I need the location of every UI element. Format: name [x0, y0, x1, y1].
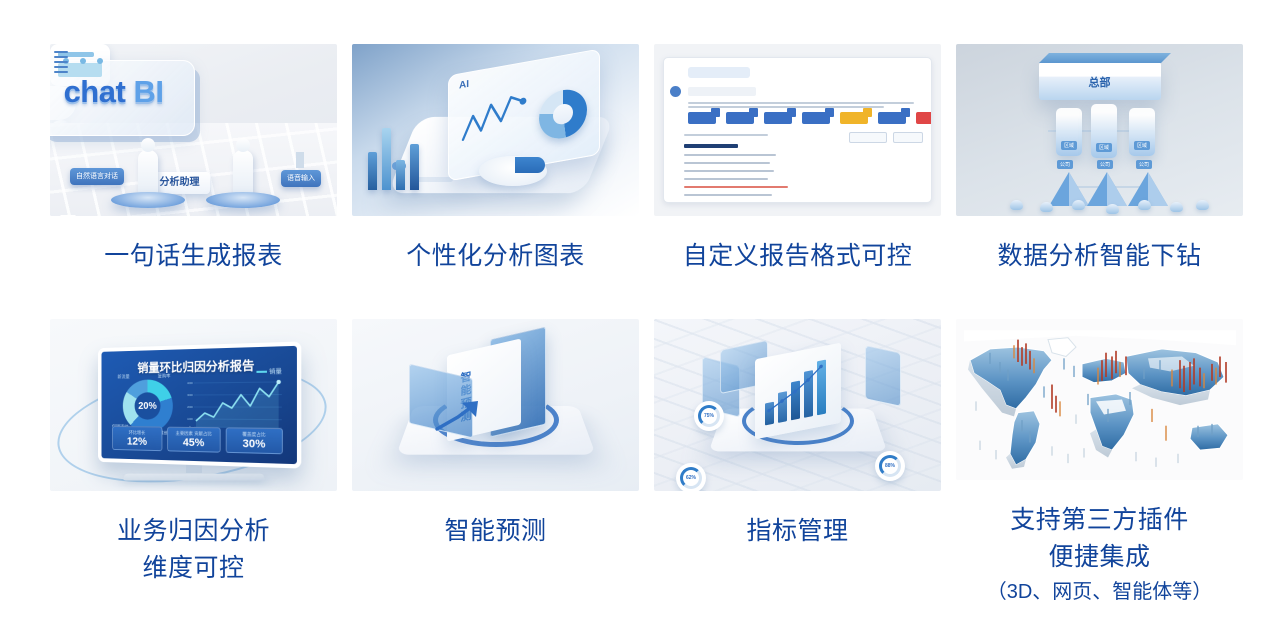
pie-chart-3d [479, 156, 547, 186]
node-dot [1010, 200, 1023, 210]
kpi-card: 覆盖度占比 30% [225, 427, 282, 454]
caption-line: 自定义报告格式可控 [683, 238, 913, 275]
card-caption: 个性化分析图表 [406, 238, 585, 275]
donut-center-value: 20% [122, 401, 172, 412]
node-dot [1106, 204, 1119, 214]
kpi-card: 环比增长 12% [112, 426, 162, 451]
dashboard-monitor: 销量环比归因分析报告 20% 新流量 复购率 促销活动 其他 销量 [98, 341, 301, 468]
caption-line: 数据分析智能下钻 [997, 238, 1201, 275]
caption-line: 业务归因分析 [117, 513, 270, 550]
region-label: 区域 [1061, 141, 1077, 150]
person-figure-right [233, 150, 253, 196]
person-figure-left [138, 150, 158, 196]
feature-card-third-party-plugins[interactable]: 支持第三方插件 便捷集成 （3D、网页、智能体等） [956, 319, 1243, 609]
chat-bi-logo: chat BI [50, 74, 194, 110]
world-map-3d-visualization [956, 319, 1243, 480]
trend-line-overlay [765, 358, 833, 425]
feature-card-smart-forecast[interactable]: 智能预测 智能预测 [352, 319, 639, 609]
caption-line: 指标管理 [746, 513, 848, 550]
card-caption: 一句话生成报表 [104, 238, 283, 275]
microphone-stand [296, 152, 304, 168]
hq-label: 总部 [1039, 74, 1161, 90]
hq-box: 总部 [1039, 62, 1161, 100]
card-caption: 支持第三方插件 便捷集成 （3D、网页、智能体等） [987, 502, 1213, 609]
monitor-foot [122, 474, 264, 481]
feature-grid: chat BI 自然语言对话 语音输入 分析助理 一句话生成报表 [0, 0, 1280, 626]
trend-up-arrow-icon [434, 397, 496, 433]
svg-text:1000: 1000 [187, 417, 193, 421]
sales-trend-line-chart: 40003000 200010000 [186, 374, 284, 435]
chat-bi-3d-illustration: chat BI 自然语言对话 语音输入 分析助理 [50, 44, 337, 216]
region-label: 区域 [1096, 143, 1112, 152]
node-dot [1040, 202, 1053, 212]
node-dot [1072, 200, 1085, 210]
logo-chat-text: chat [64, 74, 126, 109]
donut-chart-icon [539, 86, 587, 142]
kpi-card: 主要因素 贡献占比 45% [167, 427, 221, 453]
format-chip-7-alert[interactable] [916, 112, 932, 124]
report-window [663, 57, 932, 203]
format-chip-1[interactable] [688, 112, 716, 124]
node-dot [1138, 200, 1151, 210]
copy-button[interactable] [893, 132, 923, 143]
gauge-indicator: 75% [694, 401, 724, 431]
format-chip-2[interactable] [726, 112, 754, 124]
smart-forecast-glass-panels-3d: 智能预测 [352, 319, 639, 491]
gauge-value: 88% [875, 451, 905, 481]
world-map-svg [956, 319, 1243, 480]
kpi-value: 45% [168, 437, 220, 450]
podium-right [206, 192, 280, 208]
caption-line: 个性化分析图表 [406, 238, 585, 275]
svg-text:2000: 2000 [187, 405, 193, 409]
ai-label: AI [459, 79, 469, 92]
company-label: 公司 [1136, 160, 1152, 169]
glass-panel-right [865, 345, 901, 407]
card-caption: 指标管理 [746, 513, 848, 550]
svg-text:4000: 4000 [187, 381, 193, 385]
region-cylinder-2: 区域 [1091, 104, 1117, 158]
feature-card-personalized-charts[interactable]: AI 个性化分析图表 [352, 44, 639, 319]
card-caption: 智能预测 [444, 513, 546, 550]
caption-note: （3D、网页、智能体等） [987, 576, 1213, 609]
format-chip-3[interactable] [764, 112, 792, 124]
attribution-donut-chart: 20% [122, 379, 172, 432]
gauge-indicator: 88% [875, 451, 905, 481]
logo-bi-text: BI [133, 74, 163, 109]
report-builder-ui-screenshot [654, 44, 941, 216]
feature-card-metric-management[interactable]: 75% 62% 88% 指标管理 [654, 319, 941, 609]
metric-bar-chart-3d: 75% 62% 88% [654, 319, 941, 491]
report-title-chip [688, 67, 750, 78]
donut-label: 新流量 [117, 374, 129, 380]
region-cylinder-1: 区域 [1056, 108, 1082, 156]
region-label: 区域 [1134, 141, 1150, 150]
feature-card-business-attribution[interactable]: 销量环比归因分析报告 20% 新流量 复购率 促销活动 其他 销量 [50, 319, 337, 609]
bar-chart-3d [368, 124, 444, 190]
query-input-box[interactable] [688, 87, 756, 96]
tag-analysis-assistant: 分析助理 [150, 172, 210, 194]
gauge-value: 75% [694, 401, 724, 431]
gauge-indicator: 62% [676, 463, 706, 491]
sales-attribution-dashboard-3d: 销量环比归因分析报告 20% 新流量 复购率 促销活动 其他 销量 [50, 319, 337, 491]
caption-line: 智能预测 [444, 513, 546, 550]
section-heading-1 [684, 144, 738, 148]
kpi-value: 12% [113, 436, 161, 449]
format-chip-5-highlight[interactable] [840, 112, 868, 124]
caption-line: 便捷集成 [987, 539, 1213, 576]
feature-card-one-sentence-report[interactable]: chat BI 自然语言对话 语音输入 分析助理 一句话生成报表 [50, 44, 337, 319]
tag-natural-language: 自然语言对话 [70, 168, 124, 185]
card-caption: 自定义报告格式可控 [683, 238, 913, 275]
chart-panel [755, 343, 841, 440]
tag-voice-input: 语音输入 [281, 170, 321, 187]
feature-card-custom-report-format[interactable]: 自定义报告格式可控 [654, 44, 941, 319]
company-label: 公司 [1057, 160, 1073, 169]
node-dot [1170, 202, 1183, 212]
assistant-avatar-icon [670, 86, 681, 97]
export-button[interactable] [849, 132, 887, 143]
feature-card-smart-drilldown[interactable]: 总部 区域 区域 区域 公司 公司 公司 [956, 44, 1243, 319]
caption-line: 维度可控 [117, 550, 270, 587]
format-chip-6[interactable] [878, 112, 906, 124]
card-caption: 业务归因分析 维度可控 [117, 513, 270, 587]
donut-label: 复购率 [157, 373, 170, 379]
region-cylinder-3: 区域 [1129, 108, 1155, 156]
gauge-value: 62% [676, 463, 706, 491]
podium-left [111, 192, 185, 208]
svg-text:3000: 3000 [187, 393, 193, 397]
ai-analytics-device-3d: AI [352, 44, 639, 216]
caption-line: 一句话生成报表 [104, 238, 283, 275]
node-dot [1196, 200, 1209, 210]
line-chart-icon [461, 87, 535, 146]
company-label: 公司 [1097, 160, 1113, 169]
card-caption: 数据分析智能下钻 [997, 238, 1201, 275]
kpi-value: 30% [226, 438, 281, 452]
org-hierarchy-drilldown-3d: 总部 区域 区域 区域 公司 公司 公司 [956, 44, 1243, 216]
caption-line: 支持第三方插件 [987, 502, 1213, 539]
format-chip-4[interactable] [802, 112, 830, 124]
